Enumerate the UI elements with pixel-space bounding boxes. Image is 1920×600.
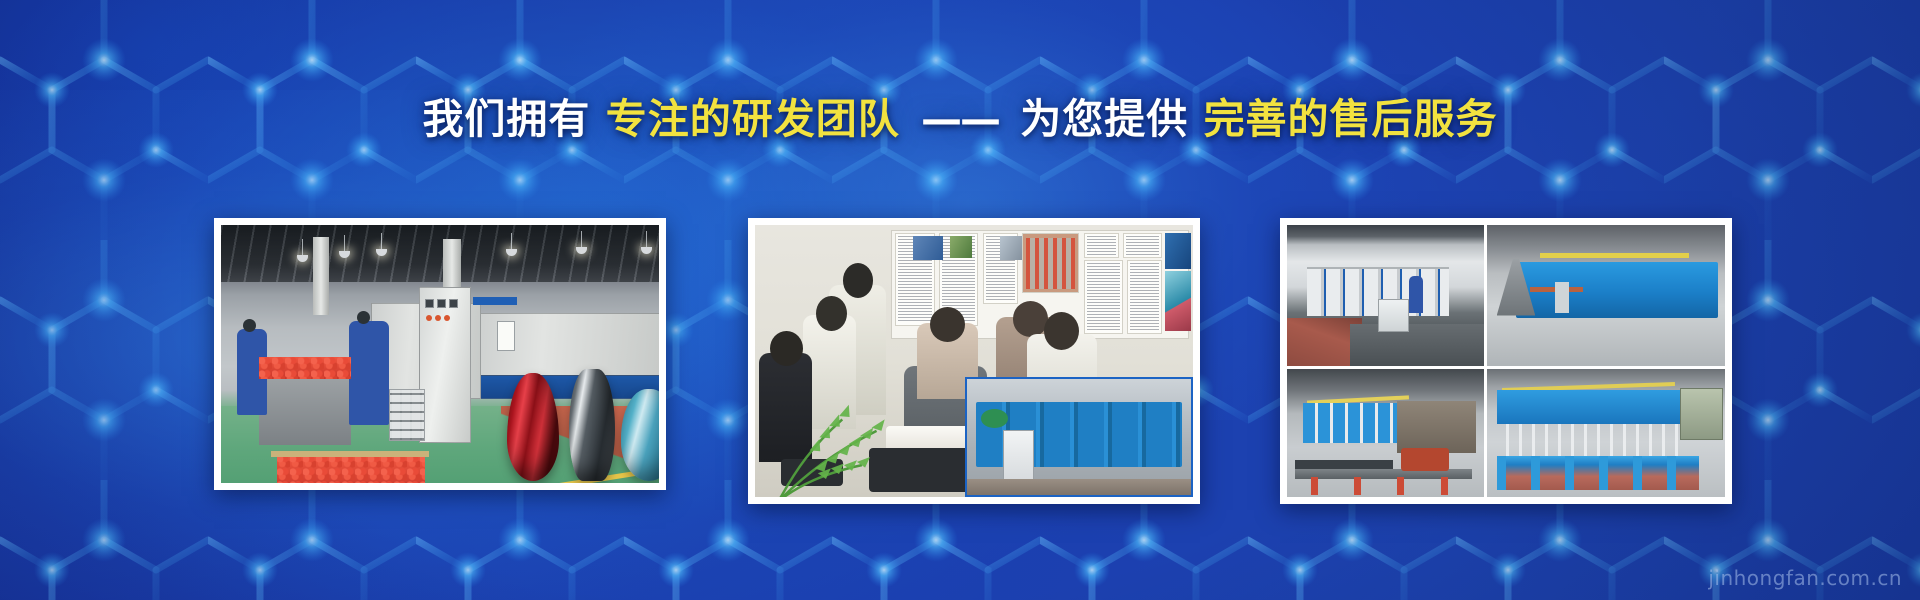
gallery-photo-equipment-collage[interactable]: 自动化涂装生产线设备 <box>1280 218 1732 504</box>
headline-part-1: 我们拥有 <box>422 95 590 143</box>
site-watermark: jinhongfan.com.cn <box>1708 566 1902 590</box>
palm-plant-decoration <box>755 377 913 497</box>
gallery-photo-production-line[interactable]: 工厂喷涂固化生产线与玻璃制品成品 <box>214 218 666 490</box>
headline-part-3: 为您提供 <box>1020 95 1188 143</box>
promotional-banner: 我们拥有 专注的研发团队 —— 为您提供 完善的售后服务 <box>0 0 1920 600</box>
headline-accent-1: 专注的研发团队 <box>606 95 900 143</box>
collage-cell-4 <box>1487 369 1725 497</box>
photo-gallery: 工厂喷涂固化生产线与玻璃制品成品 <box>0 218 1920 508</box>
inset-photo-coating-line <box>965 377 1193 497</box>
glass-vase-dark <box>569 369 615 481</box>
page-title: 我们拥有 专注的研发团队 —— 为您提供 完善的售后服务 <box>0 94 1920 145</box>
gallery-photo-team-meeting[interactable]: 研发团队技术交流会议 <box>748 218 1200 504</box>
collage-cell-3 <box>1287 369 1484 497</box>
headline-accent-2: 完善的售后服务 <box>1204 95 1498 143</box>
headline-separator: —— <box>915 95 1005 143</box>
collage-cell-1 <box>1287 225 1484 366</box>
collage-cell-2 <box>1487 225 1725 366</box>
